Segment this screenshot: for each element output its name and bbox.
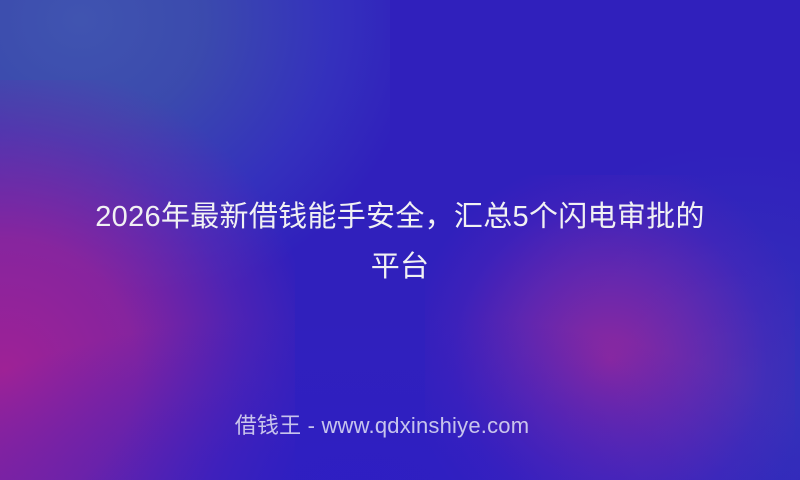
- watermark-text: 借钱王 - www.qdxinshiye.com: [235, 413, 530, 438]
- cover-title-line-2: 平台: [0, 242, 800, 292]
- cover-image: 2026年最新借钱能手安全，汇总5个闪电审批的 平台 借钱王 - www.qdx…: [0, 0, 800, 480]
- cover-title: 2026年最新借钱能手安全，汇总5个闪电审批的 平台: [0, 192, 800, 292]
- cover-title-line-1: 2026年最新借钱能手安全，汇总5个闪电审批的: [0, 192, 800, 242]
- watermark: 借钱王 - www.qdxinshiye.com: [0, 408, 800, 440]
- background-blob-bottom-wash: [0, 320, 800, 480]
